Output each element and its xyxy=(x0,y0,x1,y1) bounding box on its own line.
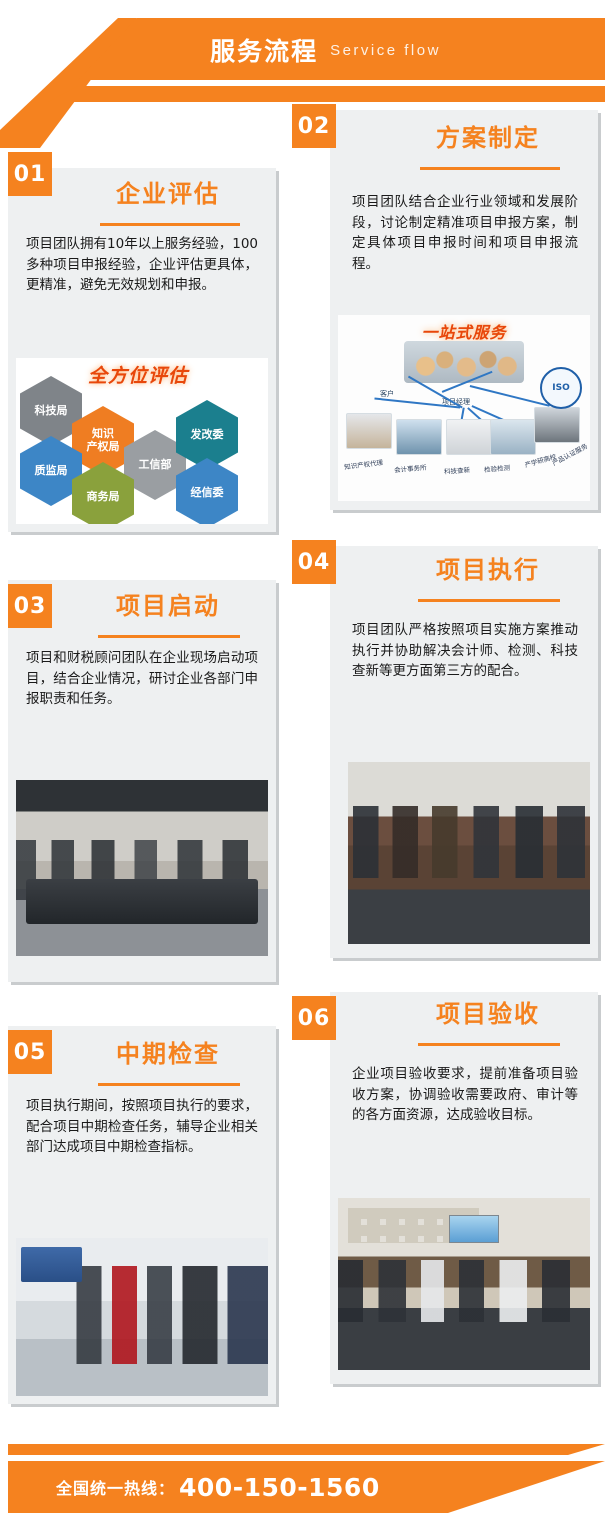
one-stop-hero-photo xyxy=(404,341,524,383)
step-title-01: 企业评估 xyxy=(68,182,268,207)
step-badge-03: 03 xyxy=(8,584,52,628)
illustration-05 xyxy=(16,1238,268,1396)
step-card-06[interactable]: 项目验收 企业项目验收要求，提前准备项目验收方案，协调验收需要政府、审计等的各方… xyxy=(330,992,598,1384)
step-card-01[interactable]: 企业评估 项目团队拥有10年以上服务经验，100多种项目申报经验，企业评估更具体… xyxy=(8,168,276,532)
illustration-01: 全方位评估 科技局 知识 产权局 质监局 工信部 商务局 发改委 经信委 xyxy=(16,358,268,524)
one-stop-node-label: 科技查新 xyxy=(444,464,471,476)
conference-room-photo xyxy=(16,780,268,956)
step-badge-02: 02 xyxy=(292,104,336,148)
step-title-05: 中期检查 xyxy=(68,1042,268,1067)
step-badge-05: 05 xyxy=(8,1030,52,1074)
hexagon-diagram-title: 全方位评估 xyxy=(88,361,188,388)
illustration-06 xyxy=(338,1198,590,1370)
one-stop-client-label: 客户 xyxy=(380,389,394,399)
one-stop-node-label: 知识产权代理 xyxy=(344,457,384,472)
one-stop-node-photo xyxy=(490,419,536,455)
page-title: 服务流程 xyxy=(210,32,318,68)
step-body-06: 企业项目验收要求，提前准备项目验收方案，协调验收需要政府、审计等的各方面资源，达… xyxy=(352,1064,578,1126)
step-badge-01: 01 xyxy=(8,152,52,196)
step-body-03: 项目和财税顾问团队在企业现场启动项目，结合企业情况，研讨企业各部门申报职责和任务… xyxy=(26,648,258,710)
step-title-02: 方案制定 xyxy=(386,126,590,151)
illustration-03 xyxy=(16,780,268,956)
lobby-visit-photo xyxy=(16,1238,268,1396)
step-body-04: 项目团队严格按照项目实施方案推动执行并协助解决会计师、检测、科技查新等更方面第三… xyxy=(352,620,578,682)
iso-seal-icon: ISO xyxy=(540,367,582,409)
one-stop-node-photo xyxy=(346,413,392,449)
boardroom-acceptance-photo xyxy=(338,1198,590,1370)
hotline-number[interactable]: 400-150-1560 xyxy=(179,1473,380,1502)
step-body-01: 项目团队拥有10年以上服务经验，100多种项目申报经验，企业评估更具体，更精准，… xyxy=(26,234,258,296)
header-title-group: 服务流程 Service flow xyxy=(0,22,605,78)
page-footer: 全国统一热线： 400-150-1560 xyxy=(0,1408,605,1538)
step-body-02: 项目团队结合企业行业领域和发展阶段，讨论制定精准项目申报方案，制定具体项目申报时… xyxy=(352,192,578,274)
projector-screen xyxy=(449,1215,499,1243)
step-card-03[interactable]: 项目启动 项目和财税顾问团队在企业现场启动项目，结合企业情况，研讨企业各部门申报… xyxy=(8,580,276,982)
one-stop-node-photo xyxy=(396,419,442,455)
title-underline-02 xyxy=(420,167,560,170)
hotline-group: 全国统一热线： 400-150-1560 xyxy=(56,1461,380,1513)
illustration-02: 一站式服务 客户 项目经理 ISO 知识产权代理 会计事务所 xyxy=(338,315,590,501)
title-underline-04 xyxy=(418,599,560,602)
one-stop-node-label: 会计事务所 xyxy=(394,462,427,475)
hotline-label: 全国统一热线： xyxy=(56,1475,175,1499)
step-title-04: 项目执行 xyxy=(386,558,590,583)
step-title-06: 项目验收 xyxy=(386,1002,590,1027)
title-underline-03 xyxy=(98,635,240,638)
title-underline-01 xyxy=(100,223,240,226)
step-title-03: 项目启动 xyxy=(68,594,268,619)
one-stop-node-photo xyxy=(446,419,492,455)
illustration-04 xyxy=(348,762,590,944)
step-body-05: 项目执行期间，按照项目执行的要求，配合项目中期检查任务，辅导企业相关部门达成项目… xyxy=(26,1096,258,1158)
one-stop-node-photo xyxy=(534,407,580,443)
step-badge-06: 06 xyxy=(292,996,336,1040)
working-meeting-photo xyxy=(348,762,590,944)
step-card-05[interactable]: 中期检查 项目执行期间，按照项目执行的要求，配合项目中期检查任务，辅导企业相关部… xyxy=(8,1026,276,1404)
hexagon-diagram: 全方位评估 科技局 知识 产权局 质监局 工信部 商务局 发改委 经信委 xyxy=(16,358,268,524)
title-underline-06 xyxy=(418,1043,560,1046)
step-card-02[interactable]: 方案制定 项目团队结合企业行业领域和发展阶段，讨论制定精准项目申报方案，制定具体… xyxy=(330,110,598,510)
one-stop-service-diagram: 一站式服务 客户 项目经理 ISO 知识产权代理 会计事务所 xyxy=(338,315,590,501)
header-orange-strip xyxy=(0,86,605,102)
page-subtitle: Service flow xyxy=(330,42,441,59)
connector-arrow xyxy=(470,385,550,406)
one-stop-title: 一站式服务 xyxy=(338,319,590,343)
title-underline-05 xyxy=(98,1083,240,1086)
step-badge-04: 04 xyxy=(292,540,336,584)
step-card-04[interactable]: 项目执行 项目团队严格按照项目实施方案推动执行并协助解决会计师、检测、科技查新等… xyxy=(330,546,598,958)
one-stop-node-label: 检验检测 xyxy=(484,462,511,474)
service-flow-infographic: 服务流程 Service flow 企业评估 项目团队拥有10年以上服务经验，1… xyxy=(0,0,605,1538)
footer-orange-strip xyxy=(8,1444,605,1455)
